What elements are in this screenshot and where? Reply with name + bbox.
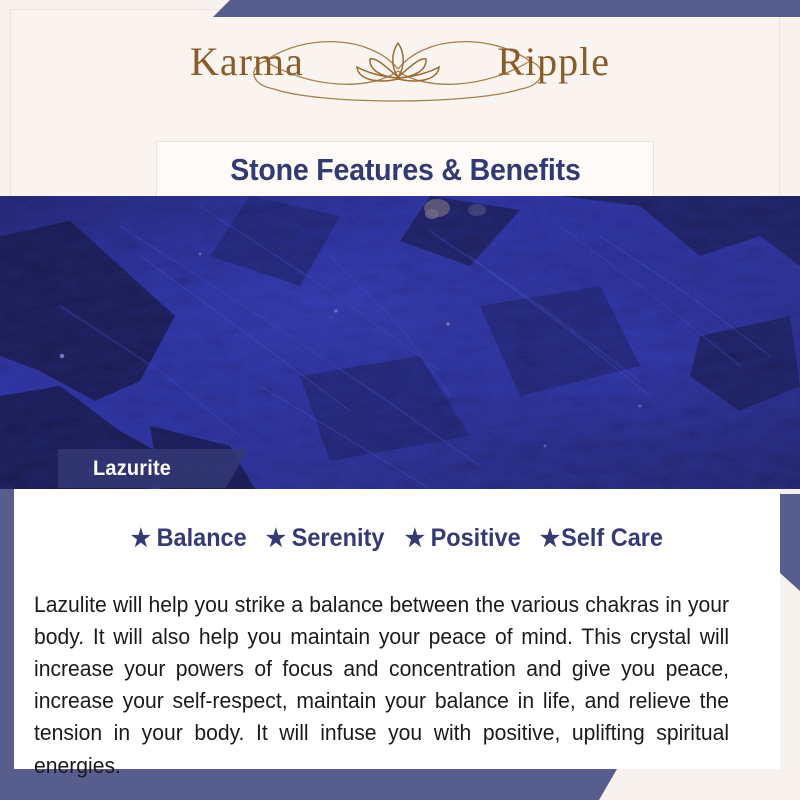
benefit-item-serenity: ★ Serenity xyxy=(266,524,385,553)
star-icon: ★ xyxy=(131,527,151,551)
brand-logo-svg: Karma Ripple xyxy=(170,27,630,115)
top-accent-band xyxy=(213,0,800,17)
brand-logo: Karma Ripple xyxy=(0,26,800,116)
stone-description: Lazulite will help you strike a balance … xyxy=(34,589,729,782)
star-icon: ★ xyxy=(540,527,560,551)
left-accent-band xyxy=(0,489,14,800)
content-panel: ★ Balance ★ Serenity ★ Positive ★ Self C… xyxy=(14,489,780,769)
benefits-row: ★ Balance ★ Serenity ★ Positive ★ Self C… xyxy=(14,524,780,553)
stone-image-texture xyxy=(0,196,800,489)
top-right-accent-band xyxy=(780,0,800,17)
brand-name-left: Karma xyxy=(190,39,304,84)
stone-info-card: Karma Ripple Stone Features & Benefits xyxy=(0,0,800,800)
benefit-label: Balance xyxy=(157,524,247,553)
page-title: Stone Features & Benefits xyxy=(230,152,580,188)
benefit-item-self-care: ★ Self Care xyxy=(540,524,663,553)
star-icon: ★ xyxy=(404,527,424,551)
right-accent-band xyxy=(780,494,800,591)
stone-name-tag: Lazurite xyxy=(58,449,248,488)
benefit-label: Serenity xyxy=(292,524,385,553)
stone-name-label: Lazurite xyxy=(93,457,171,481)
stone-image xyxy=(0,196,800,489)
brand-name-right: Ripple xyxy=(497,39,610,84)
title-banner: Stone Features & Benefits xyxy=(157,142,653,197)
benefit-label: Self Care xyxy=(561,524,663,553)
benefit-label: Positive xyxy=(430,524,520,553)
benefit-item-balance: ★ Balance xyxy=(131,524,247,553)
star-icon: ★ xyxy=(266,527,286,551)
benefit-item-positive: ★ Positive xyxy=(404,524,520,553)
